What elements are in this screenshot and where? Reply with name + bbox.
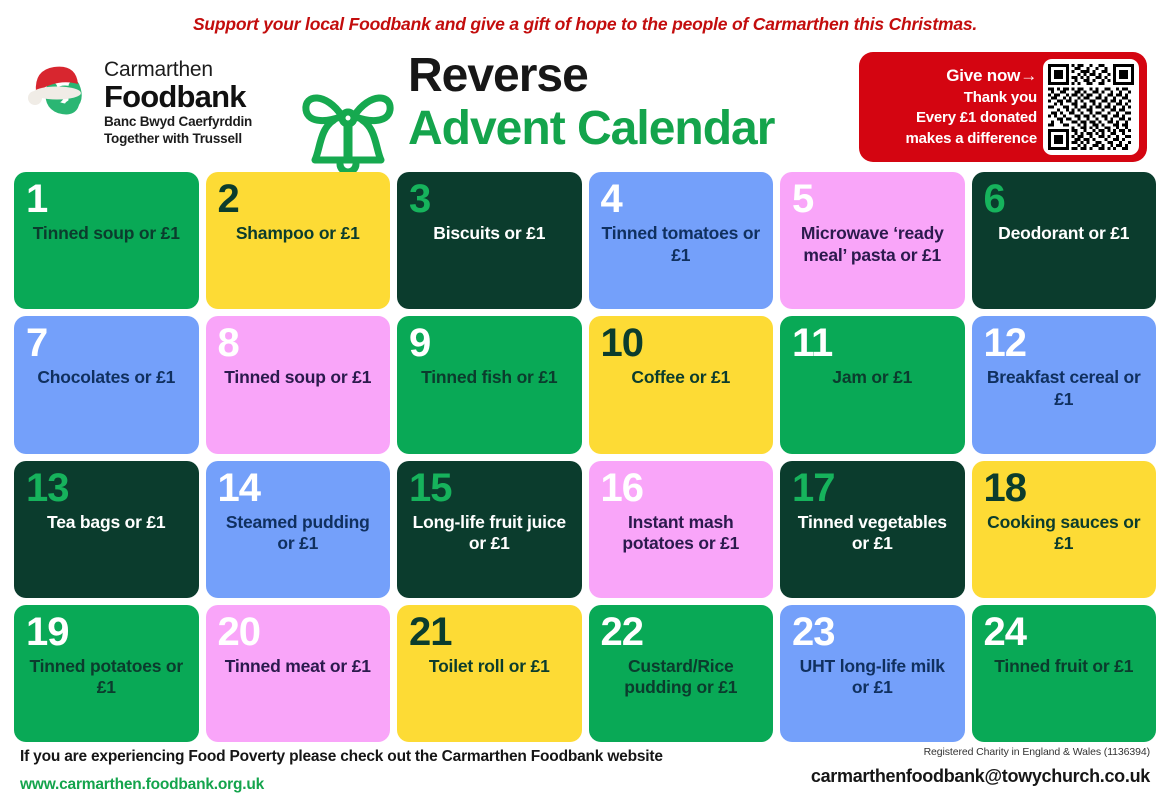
calendar-day-label: Tinned potatoes or £1 — [22, 652, 191, 732]
calendar-day-label: Breakfast cereal or £1 — [980, 363, 1149, 443]
calendar-day-14[interactable]: 14Steamed pudding or £1 — [206, 461, 391, 598]
calendar-day-number: 19 — [22, 613, 191, 652]
website-link[interactable]: www.carmarthen.foodbank.org.uk — [20, 776, 663, 794]
logo-line-foodbank: Foodbank — [104, 81, 252, 114]
advent-calendar-grid: 1Tinned soup or £12Shampoo or £13Biscuit… — [14, 172, 1156, 742]
calendar-day-label: Tinned vegetables or £1 — [788, 508, 957, 588]
calendar-day-number: 1 — [22, 180, 191, 219]
poster-footer: If you are experiencing Food Poverty ple… — [0, 744, 1170, 807]
calendar-day-label: Steamed pudding or £1 — [214, 508, 383, 588]
calendar-day-label: Tinned fruit or £1 — [980, 652, 1149, 732]
title-line-reverse: Reverse — [408, 50, 774, 103]
calendar-day-number: 21 — [405, 613, 574, 652]
calendar-day-number: 14 — [214, 469, 383, 508]
give-now-text: Give now→ Thank you Every £1 donated mak… — [906, 65, 1043, 149]
calendar-day-number: 24 — [980, 613, 1149, 652]
calendar-day-number: 10 — [597, 324, 766, 363]
calendar-day-2[interactable]: 2Shampoo or £1 — [206, 172, 391, 309]
calendar-day-label: Coffee or £1 — [597, 363, 766, 443]
calendar-day-label: Tea bags or £1 — [22, 508, 191, 588]
calendar-day-8[interactable]: 8Tinned soup or £1 — [206, 316, 391, 453]
footer-left: If you are experiencing Food Poverty ple… — [20, 748, 663, 794]
food-poverty-help-text: If you are experiencing Food Poverty ple… — [20, 748, 663, 766]
calendar-day-15[interactable]: 15Long-life fruit juice or £1 — [397, 461, 582, 598]
calendar-day-number: 5 — [788, 180, 957, 219]
calendar-day-label: Tinned soup or £1 — [22, 219, 191, 299]
calendar-day-label: Tinned soup or £1 — [214, 363, 383, 443]
page-title: Reverse Advent Calendar — [408, 50, 774, 156]
calendar-day-label: Jam or £1 — [788, 363, 957, 443]
calendar-day-4[interactable]: 4Tinned tomatoes or £1 — [589, 172, 774, 309]
calendar-day-label: Instant mash potatoes or £1 — [597, 508, 766, 588]
calendar-day-23[interactable]: 23UHT long-life milk or £1 — [780, 605, 965, 742]
give-now-line-1: Give now→ — [906, 65, 1037, 88]
calendar-day-number: 13 — [22, 469, 191, 508]
calendar-day-label: UHT long-life milk or £1 — [788, 652, 957, 732]
calendar-day-number: 23 — [788, 613, 957, 652]
calendar-day-number: 11 — [788, 324, 957, 363]
calendar-day-label: Deodorant or £1 — [980, 219, 1149, 299]
calendar-day-19[interactable]: 19Tinned potatoes or £1 — [14, 605, 199, 742]
calendar-day-number: 7 — [22, 324, 191, 363]
calendar-day-21[interactable]: 21Toilet roll or £1 — [397, 605, 582, 742]
calendar-day-label: Cooking sauces or £1 — [980, 508, 1149, 588]
foodbank-logo: Carmarthen Foodbank Banc Bwyd Caerfyrddi… — [22, 56, 322, 166]
calendar-day-20[interactable]: 20Tinned meat or £1 — [206, 605, 391, 742]
banner-headline: Support your local Foodbank and give a g… — [0, 14, 1170, 35]
calendar-day-label: Toilet roll or £1 — [405, 652, 574, 732]
calendar-day-label: Tinned meat or £1 — [214, 652, 383, 732]
calendar-day-9[interactable]: 9Tinned fish or £1 — [397, 316, 582, 453]
calendar-day-number: 2 — [214, 180, 383, 219]
calendar-day-7[interactable]: 7Chocolates or £1 — [14, 316, 199, 453]
calendar-day-6[interactable]: 6Deodorant or £1 — [972, 172, 1157, 309]
poster-header: Carmarthen Foodbank Banc Bwyd Caerfyrddi… — [0, 44, 1170, 174]
calendar-day-number: 6 — [980, 180, 1149, 219]
calendar-day-11[interactable]: 11Jam or £1 — [780, 316, 965, 453]
calendar-day-number: 20 — [214, 613, 383, 652]
give-now-line-2: Thank you — [906, 88, 1037, 108]
calendar-day-5[interactable]: 5Microwave ‘ready meal’ pasta or £1 — [780, 172, 965, 309]
footer-right: Registered Charity in England & Wales (1… — [811, 746, 1150, 787]
calendar-day-12[interactable]: 12Breakfast cereal or £1 — [972, 316, 1157, 453]
give-now-donation-box[interactable]: Give now→ Thank you Every £1 donated mak… — [859, 52, 1147, 162]
email-link[interactable]: carmarthenfoodbank@towychurch.co.uk — [811, 766, 1150, 787]
calendar-day-22[interactable]: 22Custard/Rice pudding or £1 — [589, 605, 774, 742]
calendar-day-1[interactable]: 1Tinned soup or £1 — [14, 172, 199, 309]
calendar-day-18[interactable]: 18Cooking sauces or £1 — [972, 461, 1157, 598]
calendar-day-label: Shampoo or £1 — [214, 219, 383, 299]
calendar-day-label: Tinned tomatoes or £1 — [597, 219, 766, 299]
calendar-day-number: 8 — [214, 324, 383, 363]
charity-registration-text: Registered Charity in England & Wales (1… — [811, 746, 1150, 758]
calendar-day-label: Microwave ‘ready meal’ pasta or £1 — [788, 219, 957, 299]
calendar-day-label: Tinned fish or £1 — [405, 363, 574, 443]
give-now-line-4: makes a difference — [906, 129, 1037, 149]
calendar-day-number: 4 — [597, 180, 766, 219]
calendar-day-13[interactable]: 13Tea bags or £1 — [14, 461, 199, 598]
calendar-day-number: 3 — [405, 180, 574, 219]
calendar-day-3[interactable]: 3Biscuits or £1 — [397, 172, 582, 309]
calendar-day-label: Custard/Rice pudding or £1 — [597, 652, 766, 732]
calendar-day-24[interactable]: 24Tinned fruit or £1 — [972, 605, 1157, 742]
calendar-day-16[interactable]: 16Instant mash potatoes or £1 — [589, 461, 774, 598]
calendar-day-number: 22 — [597, 613, 766, 652]
christmas-bells-icon — [296, 86, 400, 186]
calendar-day-label: Biscuits or £1 — [405, 219, 574, 299]
give-now-line-3: Every £1 donated — [906, 108, 1037, 128]
calendar-day-17[interactable]: 17Tinned vegetables or £1 — [780, 461, 965, 598]
calendar-day-number: 18 — [980, 469, 1149, 508]
title-line-advent-calendar: Advent Calendar — [408, 103, 774, 156]
qr-code-icon[interactable] — [1043, 59, 1139, 155]
reverse-advent-calendar-poster: Support your local Foodbank and give a g… — [0, 0, 1170, 807]
logo-wordmark: Carmarthen Foodbank Banc Bwyd Caerfyrddi… — [104, 58, 252, 147]
logo-line-welsh: Banc Bwyd Caerfyrddin — [104, 114, 252, 131]
calendar-day-number: 15 — [405, 469, 574, 508]
logo-line-trussell: Together with Trussell — [104, 131, 252, 148]
calendar-day-number: 12 — [980, 324, 1149, 363]
calendar-day-label: Chocolates or £1 — [22, 363, 191, 443]
logo-line-carmarthen: Carmarthen — [104, 58, 252, 81]
calendar-day-number: 16 — [597, 469, 766, 508]
calendar-day-number: 17 — [788, 469, 957, 508]
calendar-day-10[interactable]: 10Coffee or £1 — [589, 316, 774, 453]
foodbank-swirl-with-santa-hat-icon — [22, 58, 102, 138]
calendar-day-number: 9 — [405, 324, 574, 363]
calendar-day-label: Long-life fruit juice or £1 — [405, 508, 574, 588]
